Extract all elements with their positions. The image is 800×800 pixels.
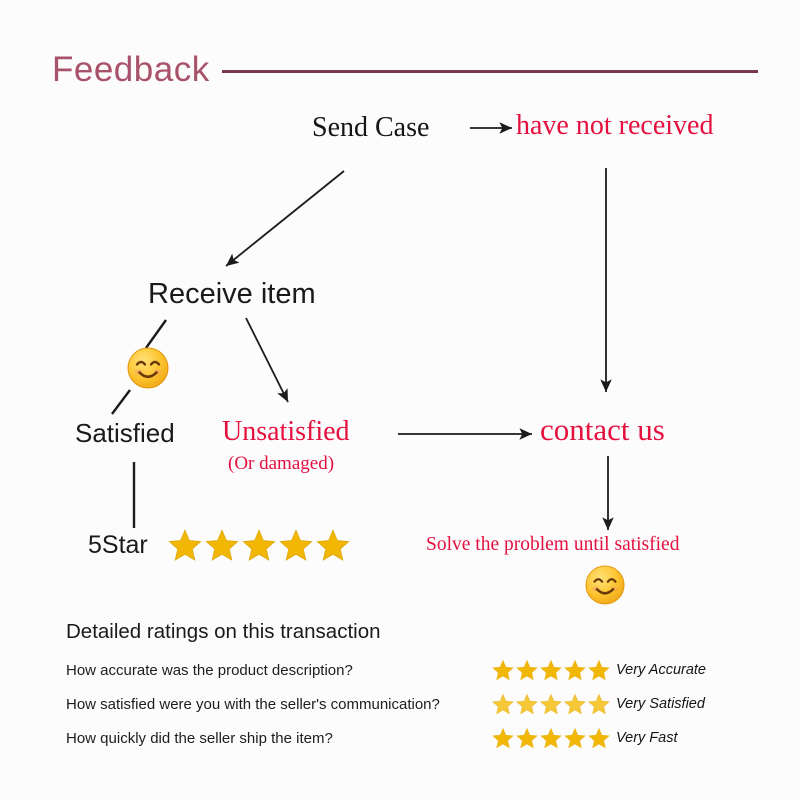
star-icon [564, 693, 586, 715]
star-icon [588, 727, 610, 749]
star-icon [242, 528, 276, 562]
node-have-not-received: have not received [516, 110, 713, 142]
rating-question: How accurate was the product description… [66, 662, 492, 679]
node-unsatisfied: Unsatisfied [222, 416, 350, 448]
star-icon [540, 693, 562, 715]
node-satisfied: Satisfied [75, 418, 175, 449]
star-icon [564, 659, 586, 681]
star-icon [492, 659, 514, 681]
rating-label: Very Fast [616, 730, 678, 746]
rating-question: How quickly did the seller ship the item… [66, 730, 492, 747]
star-icon [279, 528, 313, 562]
rating-row: How accurate was the product description… [66, 656, 766, 684]
detailed-ratings-section: Detailed ratings on this transaction How… [66, 620, 766, 758]
star-icon [564, 727, 586, 749]
rating-row: How quickly did the seller ship the item… [66, 724, 766, 752]
star-icon [540, 727, 562, 749]
star-icon [205, 528, 239, 562]
rating-stars [492, 659, 616, 681]
smiling-face-icon [127, 347, 169, 394]
star-icon [516, 659, 538, 681]
rating-label: Very Accurate [616, 662, 706, 678]
star-icon [540, 659, 562, 681]
five-star-rating [168, 528, 350, 562]
page-title: Feedback [52, 50, 210, 90]
star-icon [516, 727, 538, 749]
star-icon [588, 659, 610, 681]
star-icon [168, 528, 202, 562]
node-solve-problem: Solve the problem until satisfied [426, 534, 679, 556]
node-unsatisfied-note: (Or damaged) [228, 453, 334, 475]
node-contact-us: contact us [540, 412, 665, 448]
rating-stars [492, 693, 616, 715]
star-icon [492, 727, 514, 749]
feedback-diagram: Feedback Send Case have not received Rec… [0, 0, 800, 800]
star-icon [492, 693, 514, 715]
star-icon [588, 693, 610, 715]
node-five-star: 5Star [88, 531, 148, 560]
rating-label: Very Satisfied [616, 696, 705, 712]
node-receive-item: Receive item [148, 278, 316, 311]
star-icon [316, 528, 350, 562]
smiling-face-icon [585, 565, 625, 610]
detailed-ratings-title: Detailed ratings on this transaction [66, 620, 766, 644]
rating-row: How satisfied were you with the seller's… [66, 690, 766, 718]
rating-stars [492, 727, 616, 749]
node-send-case: Send Case [312, 112, 429, 144]
title-divider [222, 70, 758, 73]
rating-question: How satisfied were you with the seller's… [66, 696, 492, 713]
star-icon [516, 693, 538, 715]
